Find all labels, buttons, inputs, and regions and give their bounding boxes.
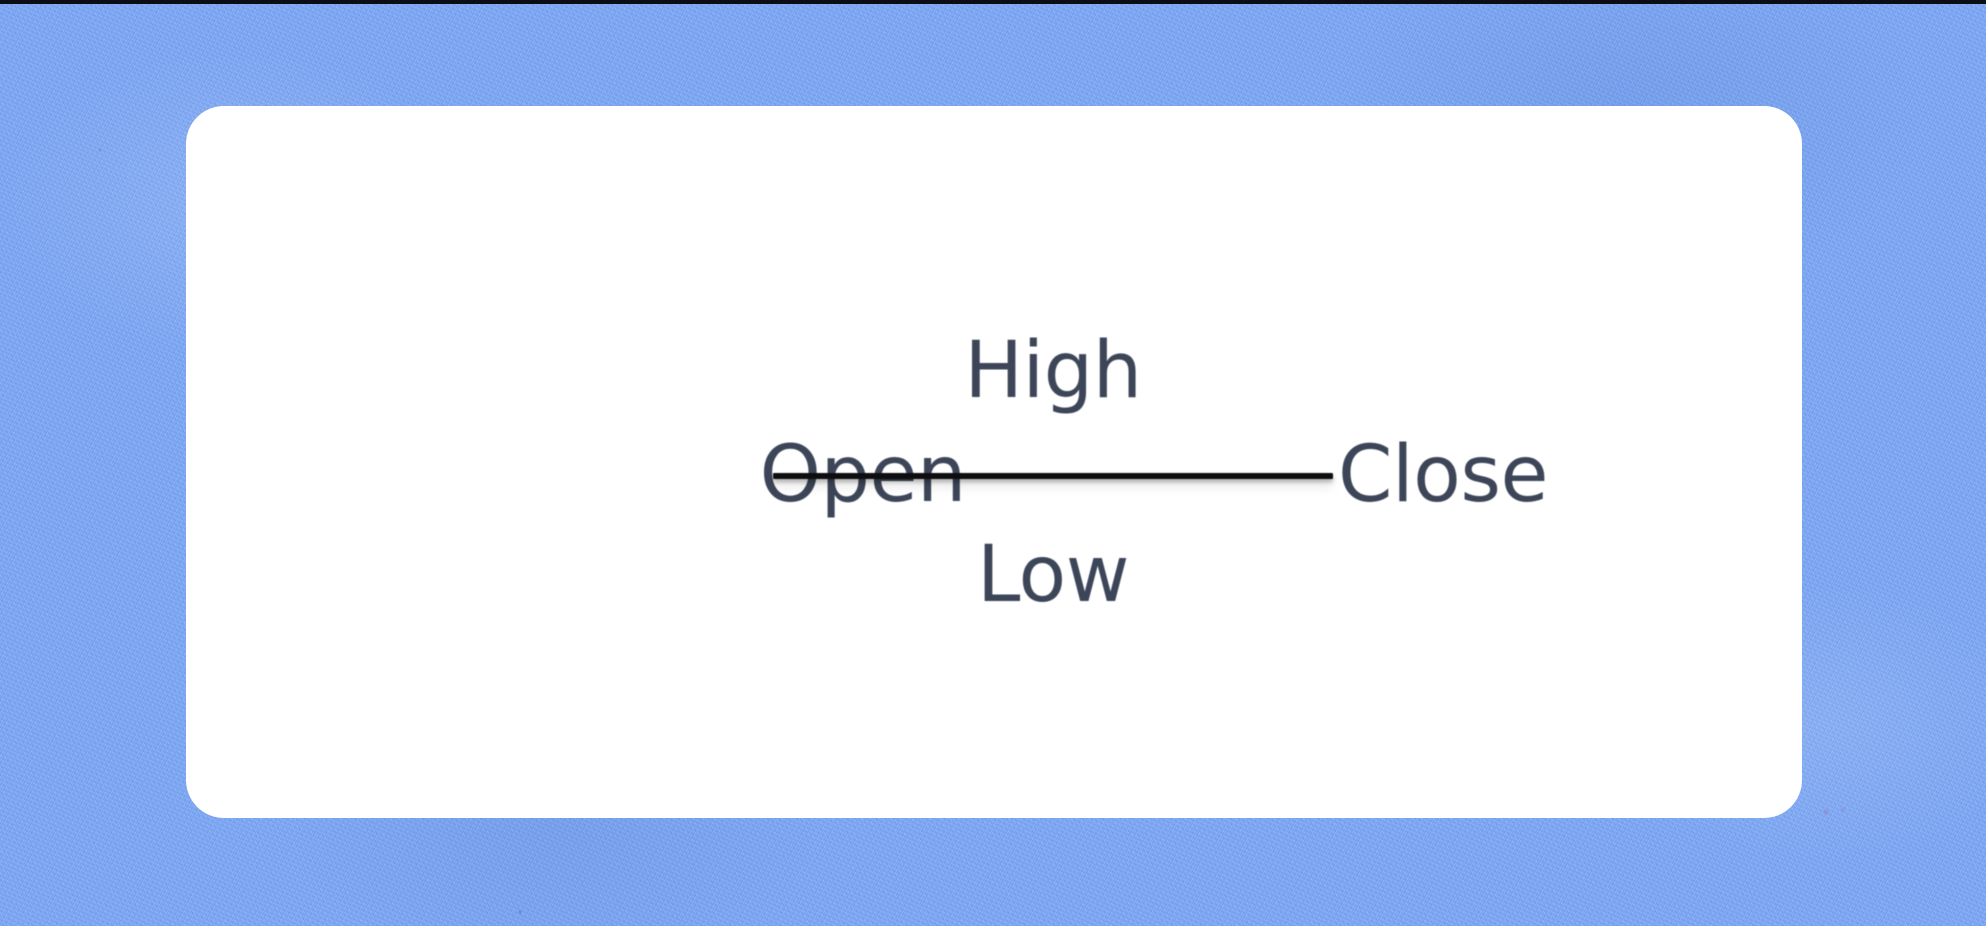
label-close: Close (1338, 436, 1548, 514)
slide-canvas: Open Close High Low (0, 0, 1986, 926)
ohlc-diagram: Open Close High Low (186, 106, 1802, 818)
label-low: Low (853, 536, 1253, 614)
range-line (773, 473, 1333, 479)
label-high: High (853, 332, 1253, 410)
content-card: Open Close High Low (186, 106, 1802, 818)
top-edge-strip (0, 0, 1986, 4)
